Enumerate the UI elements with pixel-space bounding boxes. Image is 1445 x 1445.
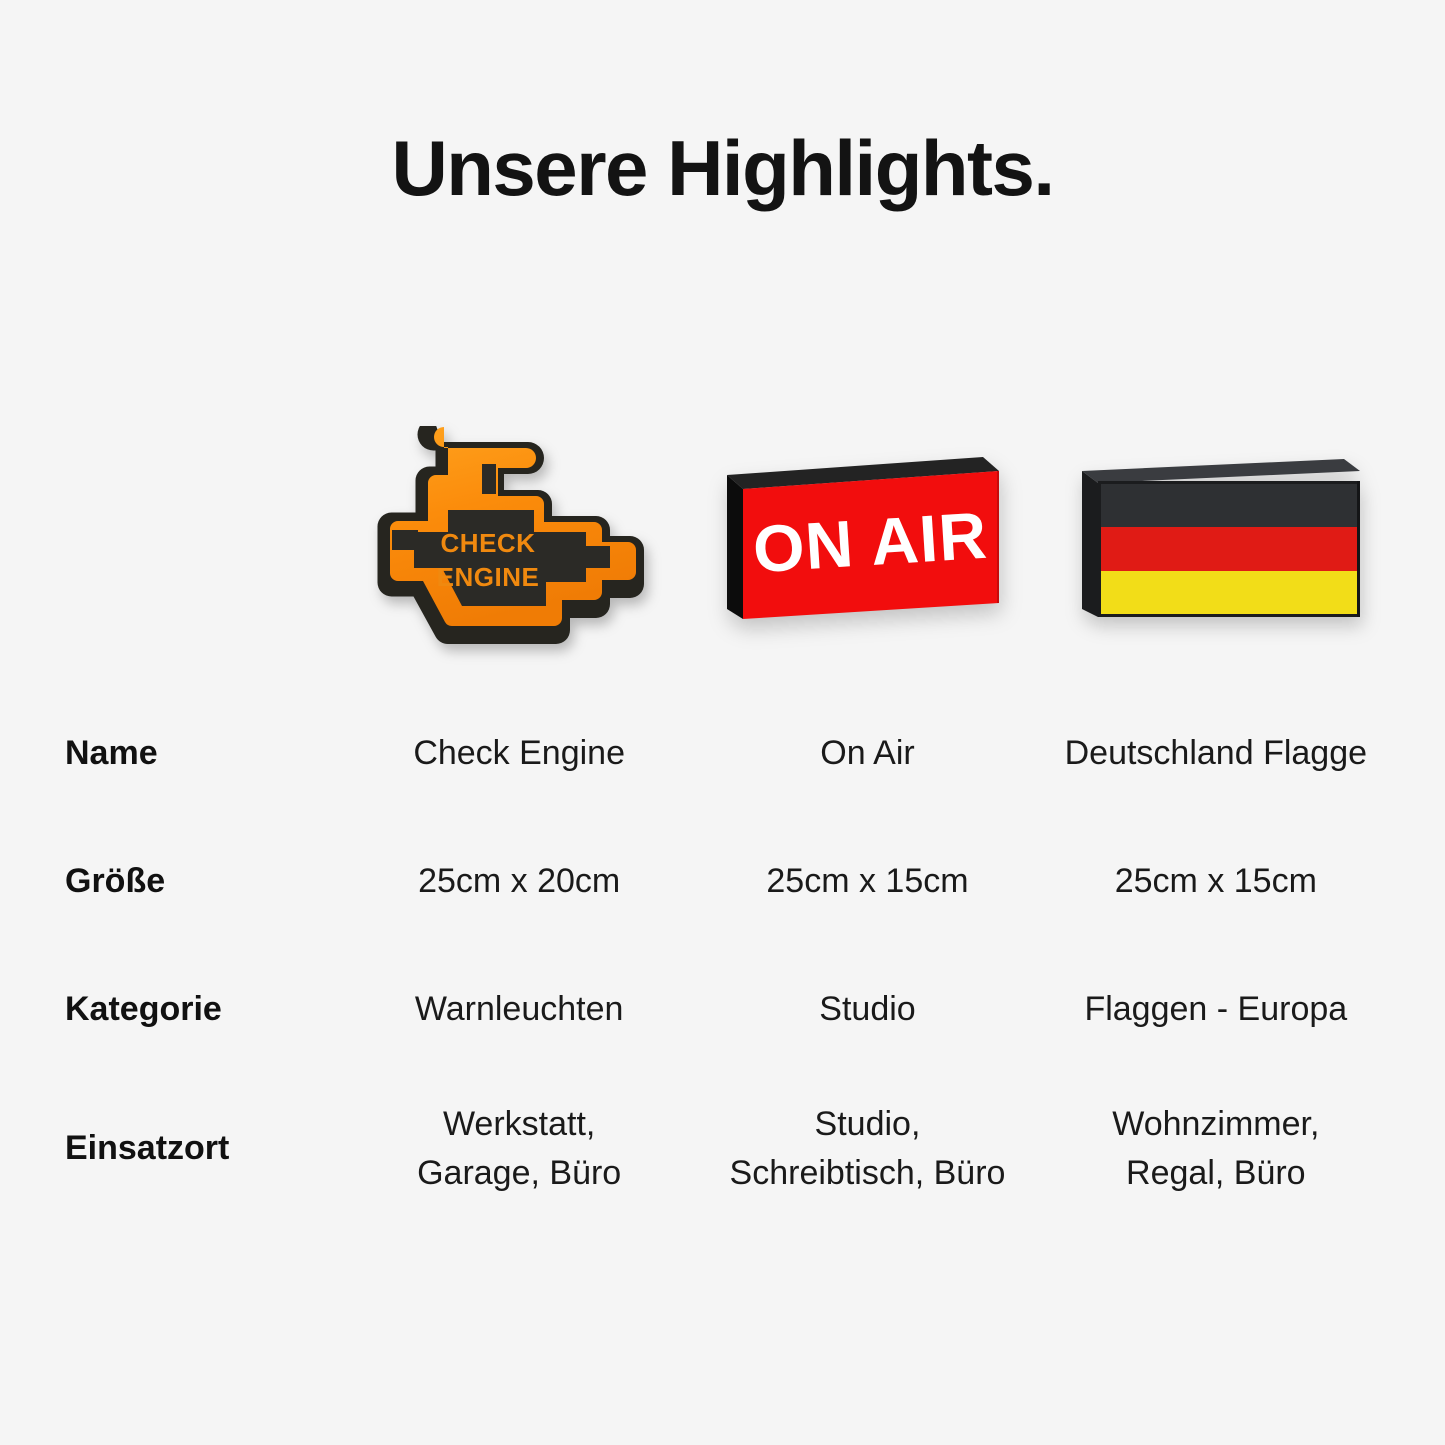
cell-name-deutschland-flagge: Deutschland Flagge (1042, 690, 1390, 818)
cell-einsatzort-on-air: Studio, Schreibtisch, Büro (717, 1074, 1017, 1224)
cell-kategorie-on-air: Studio (693, 946, 1041, 1074)
cell-kategorie-check-engine: Warnleuchten (345, 946, 693, 1074)
check-engine-line2: ENGINE (437, 562, 540, 592)
product-image-on-air[interactable]: ON AIR (693, 412, 1041, 662)
row-label-einsatzort: Einsatzort (55, 1074, 345, 1224)
row-label-name: Name (55, 690, 345, 818)
spec-table: Name Check Engine On Air Deutschland Fla… (55, 690, 1390, 1224)
cell-einsatzort-deutschland-flagge: Wohnzimmer, Regal, Büro (1081, 1074, 1351, 1224)
row-label-kategorie: Kategorie (55, 946, 345, 1074)
product-image-check-engine[interactable]: CHECK ENGINE (345, 412, 693, 662)
cell-kategorie-deutschland-flagge: Flaggen - Europa (1042, 946, 1390, 1074)
on-air-icon: ON AIR (709, 432, 1009, 642)
cell-name-on-air: On Air (693, 690, 1041, 818)
check-engine-line1: CHECK (441, 528, 536, 558)
product-image-deutschland-flagge[interactable] (1042, 412, 1390, 662)
cell-groesse-check-engine: 25cm x 20cm (345, 818, 693, 946)
check-engine-icon: CHECK ENGINE (363, 422, 663, 652)
product-image-row: CHECK ENGINE ON AIR (55, 412, 1390, 662)
cell-groesse-deutschland-flagge: 25cm x 15cm (1042, 818, 1390, 946)
row-label-groesse: Größe (55, 818, 345, 946)
cell-einsatzort-check-engine: Werkstatt, Garage, Büro (389, 1074, 649, 1224)
cell-name-check-engine: Check Engine (345, 690, 693, 818)
highlights-comparison-page: Unsere Highlights. (0, 0, 1445, 1445)
product-image-spacer (55, 412, 345, 662)
cell-groesse-on-air: 25cm x 15cm (693, 818, 1041, 946)
page-title: Unsere Highlights. (0, 128, 1445, 210)
on-air-text: ON AIR (751, 498, 990, 587)
germany-flag-icon (1068, 430, 1368, 645)
